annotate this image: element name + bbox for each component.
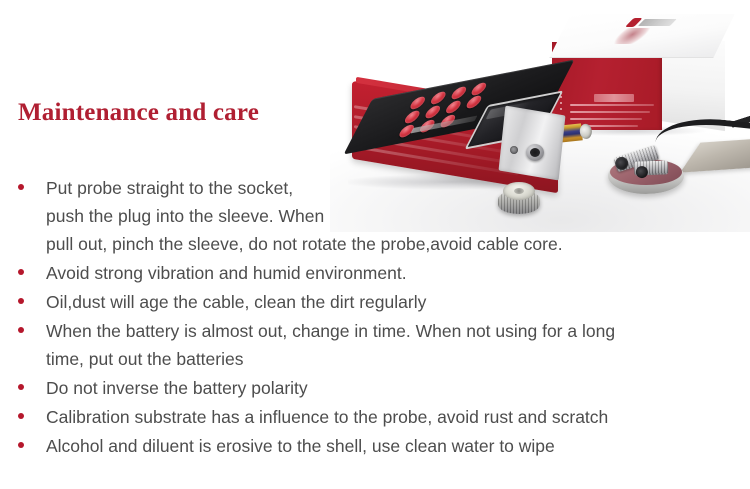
keypad-button — [423, 105, 442, 120]
page-title: Maintenance and care — [18, 99, 259, 127]
keypad-button — [469, 82, 488, 97]
product-info-page: Maintenance and care Put probe straight … — [0, 0, 750, 489]
logo-wordmark — [638, 19, 677, 26]
list-item: When the battery is almost out, change i… — [16, 317, 732, 373]
list-item-text: Do not inverse the battery polarity — [46, 374, 732, 402]
maintenance-list: Put probe straight to the socket, push t… — [16, 174, 732, 461]
bullet-dot-icon — [18, 442, 24, 448]
keypad-button — [429, 91, 448, 106]
end-plate-screw — [510, 146, 518, 154]
bullet-dot-icon — [18, 184, 24, 190]
box-lid — [549, 14, 734, 58]
box-crest-graphic — [608, 28, 654, 44]
list-item: Do not inverse the battery polarity — [16, 374, 732, 402]
meter-probe-socket — [526, 144, 544, 161]
list-item: Calibration substrate has a influence to… — [16, 403, 732, 431]
list-item: Oil,dust will age the cable, clean the d… — [16, 288, 732, 316]
list-item-text: Put probe straight to the socket, push t… — [46, 174, 732, 258]
list-item-text: When the battery is almost out, change i… — [46, 317, 732, 373]
list-item-text: Oil,dust will age the cable, clean the d… — [46, 288, 732, 316]
list-item-text: Alcohol and diluent is erosive to the sh… — [46, 432, 732, 460]
meter-end-plate — [499, 106, 566, 181]
keypad-button — [449, 86, 468, 101]
list-item: Avoid strong vibration and humid environ… — [16, 259, 732, 287]
box-logo — [622, 18, 680, 30]
keypad-button — [464, 95, 483, 110]
keypad-button — [444, 100, 463, 115]
bullet-dot-icon — [18, 413, 24, 419]
bullet-dot-icon — [18, 269, 24, 275]
bullet-dot-icon — [18, 298, 24, 304]
bullet-dot-icon — [18, 327, 24, 333]
list-item-text: Avoid strong vibration and humid environ… — [46, 259, 732, 287]
bullet-dot-icon — [18, 384, 24, 390]
list-item: Put probe straight to the socket, push t… — [16, 174, 732, 258]
list-item: Alcohol and diluent is erosive to the sh… — [16, 432, 732, 460]
list-item-text: Calibration substrate has a influence to… — [46, 403, 732, 431]
